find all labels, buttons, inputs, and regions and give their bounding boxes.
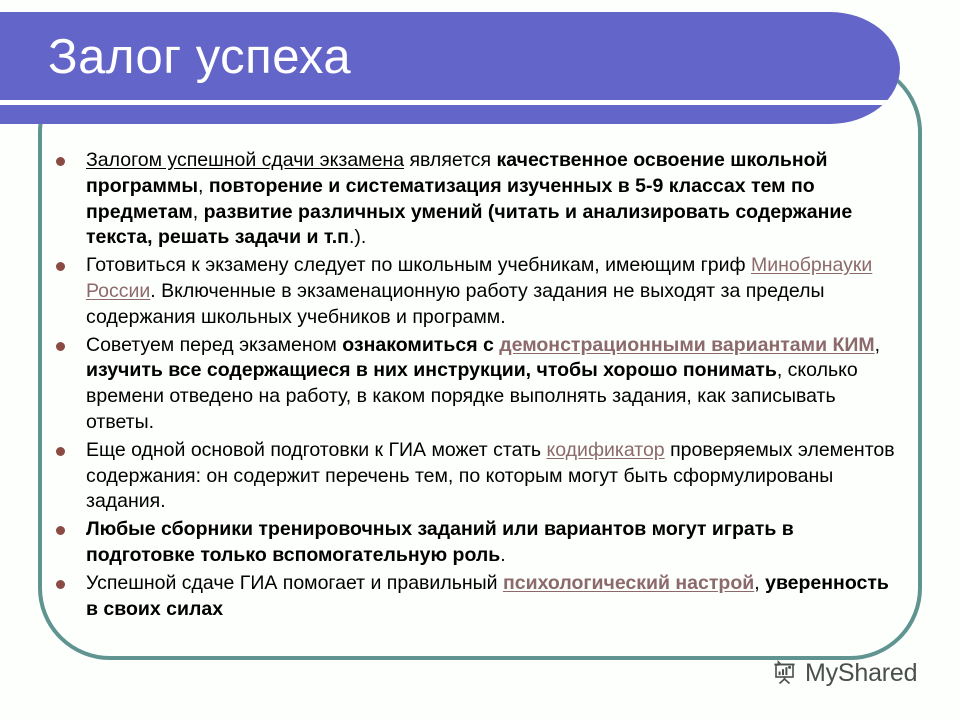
header-divider-rule xyxy=(0,100,900,105)
list-item-text: Успешной сдаче ГИА помогает и правильный… xyxy=(86,571,902,623)
bullet-list: Залогом успешной сдачи экзамена является… xyxy=(56,148,902,624)
text-run: , xyxy=(875,334,880,356)
list-item-text: Любые сборники тренировочных заданий или… xyxy=(86,517,902,569)
inline-link[interactable]: психологический настрой xyxy=(503,572,754,594)
inline-link[interactable]: демонстрационными вариантами КИМ xyxy=(499,334,874,356)
inline-link[interactable]: кодификатор xyxy=(547,439,665,461)
text-run: Советуем перед экзаменом xyxy=(86,334,342,356)
list-item: Любые сборники тренировочных заданий или… xyxy=(56,517,902,569)
bullet-dot-icon xyxy=(56,157,65,166)
watermark-label: MyShared xyxy=(805,660,917,686)
text-run: Любые сборники тренировочных заданий или… xyxy=(86,518,794,566)
presentation-slide: Залог успеха Залогом успешной сдачи экза… xyxy=(0,0,960,720)
list-item: Успешной сдаче ГИА помогает и правильный… xyxy=(56,571,902,623)
text-run: . Включенные в экзаменационную работу за… xyxy=(86,280,825,328)
slide-header-banner: Залог успеха xyxy=(0,12,900,124)
text-run: , xyxy=(198,175,209,197)
text-run: Еще одной основой подготовки к ГИА может… xyxy=(86,439,547,461)
list-item-text: Готовиться к экзамену следует по школьны… xyxy=(86,253,902,330)
text-run: , xyxy=(193,201,204,223)
text-run: Готовиться к экзамену следует по школьны… xyxy=(86,254,751,276)
text-run: является xyxy=(404,149,496,171)
presentation-easel-chart-icon xyxy=(772,660,798,686)
list-item: Готовиться к экзамену следует по школьны… xyxy=(56,253,902,330)
bullet-dot-icon xyxy=(56,526,65,535)
text-run: ознакомиться с xyxy=(342,334,499,356)
bullet-dot-icon xyxy=(56,580,65,589)
list-item: Советуем перед экзаменом ознакомиться с … xyxy=(56,333,902,436)
bullet-dot-icon xyxy=(56,262,65,271)
list-item-text: Залогом успешной сдачи экзамена является… xyxy=(86,148,902,251)
list-item: Еще одной основой подготовки к ГИА может… xyxy=(56,438,902,515)
bullet-dot-icon xyxy=(56,342,65,351)
myshared-watermark: MyShared xyxy=(772,660,917,686)
list-item: Залогом успешной сдачи экзамена является… xyxy=(56,148,902,251)
text-run: изучить все содержащиеся в них инструкци… xyxy=(86,359,777,381)
list-item-text: Советуем перед экзаменом ознакомиться с … xyxy=(86,333,902,436)
list-item-text: Еще одной основой подготовки к ГИА может… xyxy=(86,438,902,515)
text-run: , xyxy=(754,572,765,594)
text-run: .). xyxy=(349,226,366,248)
text-run: . xyxy=(500,544,505,566)
bullet-dot-icon xyxy=(56,447,65,456)
text-run: Залогом успешной сдачи экзамена xyxy=(86,149,404,171)
text-run: Успешной сдаче ГИА помогает и правильный xyxy=(86,572,503,594)
page-title: Залог успеха xyxy=(48,26,351,88)
